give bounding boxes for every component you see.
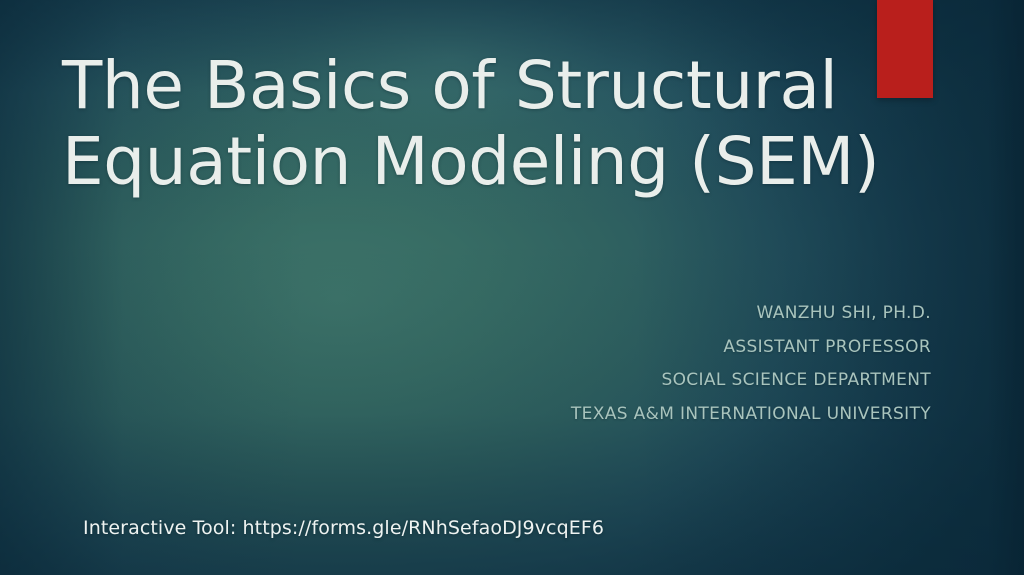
slide-title: The Basics of Structural Equation Modeli…	[62, 48, 902, 200]
presenter-name: WANZHU SHI, PH.D.	[571, 297, 931, 331]
presenter-title: ASSISTANT PROFESSOR	[571, 331, 931, 365]
presenter-block: WANZHU SHI, PH.D. ASSISTANT PROFESSOR SO…	[571, 297, 931, 431]
presenter-department: SOCIAL SCIENCE DEPARTMENT	[571, 364, 931, 398]
presenter-institution: TEXAS A&M INTERNATIONAL UNIVERSITY	[571, 398, 931, 432]
title-slide: The Basics of Structural Equation Modeli…	[0, 0, 1024, 575]
interactive-tool-link[interactable]: Interactive Tool: https://forms.gle/RNhS…	[83, 515, 604, 541]
